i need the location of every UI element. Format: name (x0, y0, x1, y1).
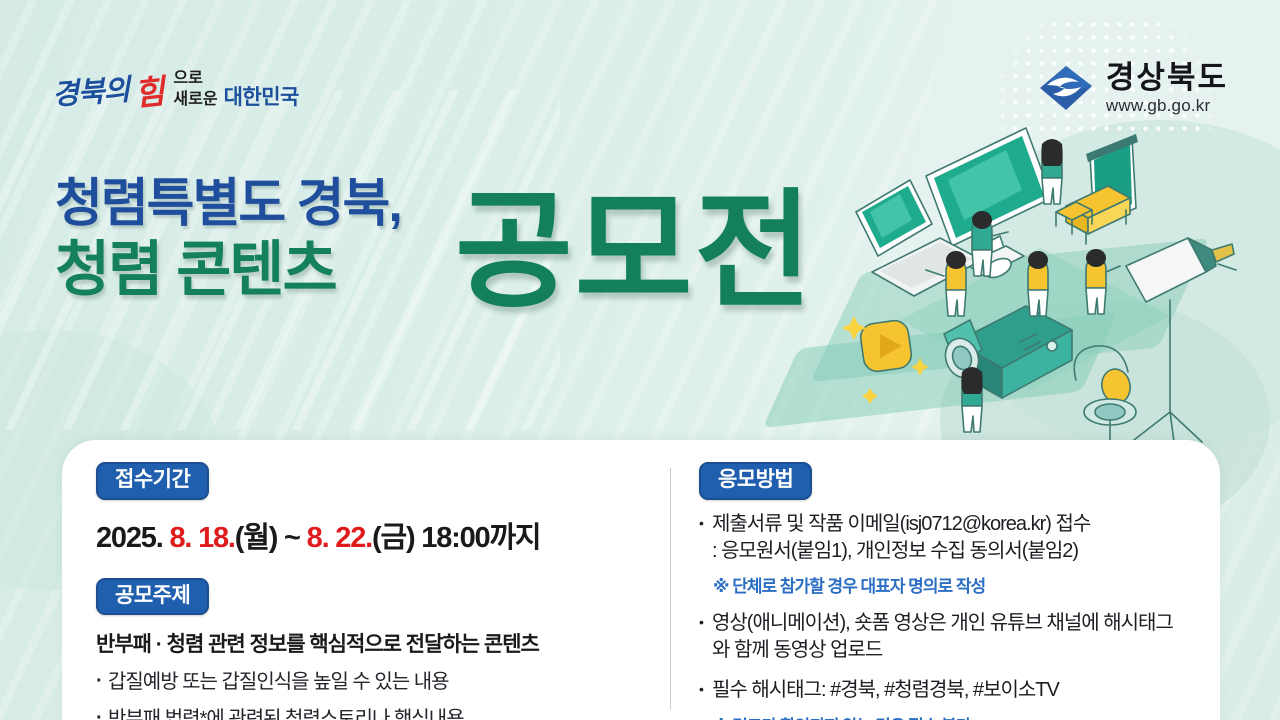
period-year: 2025. (96, 522, 169, 554)
isometric-video-studio-illustration (840, 120, 1280, 450)
headline-big-title: 공모전 (455, 188, 814, 316)
period-weekday-end: (금) (372, 522, 414, 554)
slogan-line2-prefix: 새로운 (173, 92, 217, 109)
period-value: 2025. 8. 18.(월) ~ 8. 22.(금) 18:00까지 (96, 514, 644, 556)
gyeongbuk-url: www.gb.go.kr (1106, 97, 1228, 115)
period-weekday-start: (월) (235, 522, 277, 554)
slogan-script-text: 경북의 (51, 66, 131, 113)
method-item-1-note: ※ 단체로 참가할 경우 대표자 명의로 작성 (699, 572, 1190, 597)
method-item-2: 영상(애니메이션), 숏폼 영상은 개인 유튜브 채널에 해시태그와 함께 동영… (699, 610, 1190, 664)
period-badge: 접수기간 (96, 462, 209, 500)
slogan-line1: 으로 (173, 71, 298, 88)
info-card: 접수기간 2025. 8. 18.(월) ~ 8. 22.(금) 18:00까지… (62, 440, 1220, 720)
headline-line-1: 청렴특별도 경북, (55, 178, 401, 230)
method-item-1-sub: : 응모원서(붙임1), 개인정보 수집 동의서(붙임2) (699, 538, 1190, 565)
topic-bullet-1: 갑질예방 또는 갑질인식을 높일 수 있는 내용 (96, 669, 644, 695)
headline-line-2: 청렴 콘텐츠 (55, 240, 401, 300)
slogan-tail: 으로 새로운 대한민국 (173, 71, 298, 109)
method-badge: 응모방법 (699, 462, 812, 500)
slogan-line2: 새로운 대한민국 (173, 87, 298, 109)
gyeongbuk-emblem-icon (1039, 65, 1093, 111)
info-column-left: 접수기간 2025. 8. 18.(월) ~ 8. 22.(금) 18:00까지… (96, 462, 670, 720)
info-column-right: 응모방법 제출서류 및 작품 이메일(isj0712@korea.kr) 접수 … (697, 462, 1190, 720)
gyeongbuk-logo-text: 경상북도 www.gb.go.kr (1106, 62, 1228, 114)
gyeongbuk-name: 경상북도 (1106, 62, 1228, 95)
period-separator: ~ (277, 522, 306, 554)
topic-lead: 반부패 · 청렴 관련 정보를 핵심적으로 전달하는 콘텐츠 (96, 628, 644, 658)
slogan-logo: 경북의 힘 으로 새로운 대한민국 (52, 66, 299, 114)
method-item-3: 필수 해시태그: #경북, #청렴경북, #보이소TV (699, 677, 1190, 704)
topic-block: 공모주제 반부패 · 청렴 관련 정보를 핵심적으로 전달하는 콘텐츠 갑질예방… (96, 578, 644, 720)
topic-bullet-2: 반부패 법령*에 관련된 청렴스토리나 핵심내용 (96, 706, 644, 720)
poster-root: 경북의 힘 으로 새로운 대한민국 경상북도 www.gb.go.kr 청렴특별… (0, 0, 1280, 720)
method-item-1: 제출서류 및 작품 이메일(isj0712@korea.kr) 접수 (699, 511, 1190, 538)
headline-group: 청렴특별도 경북, 청렴 콘텐츠 (55, 178, 401, 300)
column-divider (670, 468, 671, 710)
gyeongbuk-logo: 경상북도 www.gb.go.kr (1039, 62, 1228, 114)
period-time: 18:00까지 (414, 522, 540, 554)
method-item-3-note: ※ 링크가 확인되지 않는 경우 접수 불가 (699, 712, 1190, 720)
slogan-him-mark: 힘 (132, 65, 167, 116)
slogan-line2-korea: 대한민국 (224, 87, 299, 109)
topic-badge: 공모주제 (96, 578, 209, 616)
period-date-start: 8. 18. (169, 522, 234, 554)
period-date-end: 8. 22. (307, 522, 372, 554)
